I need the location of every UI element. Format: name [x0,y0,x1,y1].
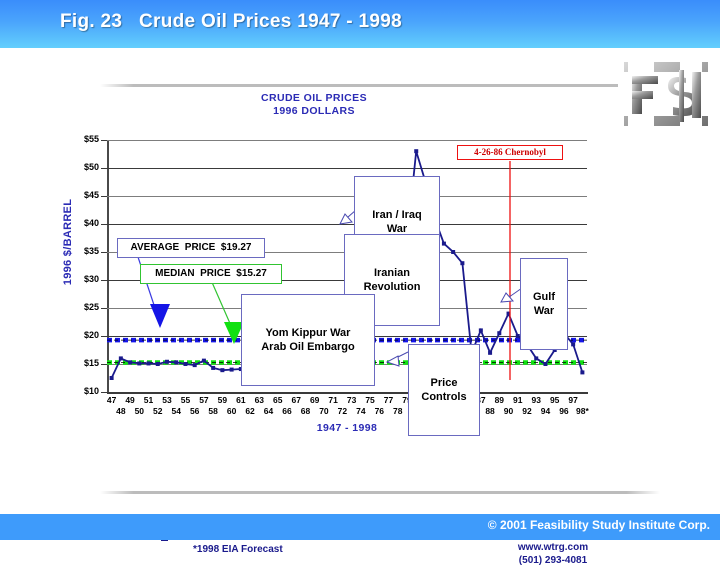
x-axis-tick-label: 58 [204,406,222,416]
series-marker [460,261,464,265]
x-axis-tick-label: 54 [167,406,185,416]
series-marker [534,356,538,360]
x-axis-tick-label: 60 [223,406,241,416]
series-marker [571,342,575,346]
x-axis-tick-label: 64 [260,406,278,416]
y-axis-tick-label: $50 [61,163,99,172]
x-axis-tick-label: 93 [527,395,545,405]
series-marker [165,360,169,364]
x-axis-tick-label: 92 [518,406,536,416]
gridline [107,392,587,393]
y-axis-tick-label: $55 [61,135,99,144]
x-axis-tick-label: 72 [333,406,351,416]
x-axis-tick-label: 75 [361,395,379,405]
x-axis-title: 1947 - 1998 [107,422,587,434]
x-axis-tick-label: 74 [352,406,370,416]
chart-title-line2: 1996 DOLLARS [14,105,614,118]
series-marker [507,312,511,316]
series-marker [174,360,178,364]
x-axis-tick-label: 89 [490,395,508,405]
annotation-average-price: AVERAGE PRICE $19.27 [117,238,265,258]
legend-footnote: *1998 EIA Forecast [193,544,283,555]
series-marker [156,362,160,366]
series-marker [479,328,483,332]
x-axis-tick-label: 76 [370,406,388,416]
page-title: Fig. 23 Crude Oil Prices 1947 - 1998 [60,11,402,33]
series-marker [137,361,141,365]
x-axis-tick-label: 47 [103,395,121,405]
series-marker [211,366,215,370]
x-axis-tick-label: 52 [149,406,167,416]
x-axis-tick-label: 57 [195,395,213,405]
series-marker [580,370,584,374]
series-marker [497,331,501,335]
x-axis-tick-label: 98* [573,406,591,416]
x-axis-tick-labels: 4749515355575961636567697173757779818385… [107,395,589,421]
credit-line-2: www.wtrg.com [448,541,658,554]
divider-top [100,84,660,87]
annotation-yom-kippur-war: Yom Kippur War Arab Oil Embargo [241,294,375,386]
x-axis-tick-label: 59 [213,395,231,405]
x-axis-tick-label: 49 [121,395,139,405]
series-marker [128,360,132,364]
slide-footer-bar: © 2001 Feasibility Study Institute Corp. [0,514,720,540]
series-marker [451,250,455,254]
x-axis-tick-label: 97 [564,395,582,405]
x-axis-tick-label: 69 [306,395,324,405]
x-axis-tick-label: 70 [315,406,333,416]
x-axis-tick-label: 96 [555,406,573,416]
slide-header-bar: Fig. 23 Crude Oil Prices 1947 - 1998 [0,0,720,48]
credit-line-3: (501) 293-4081 [448,554,658,567]
y-axis-tick-label: $45 [61,191,99,200]
x-axis-tick-label: 56 [186,406,204,416]
x-axis-tick-label: 68 [296,406,314,416]
series-marker [442,242,446,246]
x-axis-tick-label: 65 [269,395,287,405]
y-axis-tick-labels: $10$15$20$25$30$35$40$45$50$55 [54,140,99,392]
y-axis-tick-label: $25 [61,303,99,312]
x-axis-tick-label: 50 [130,406,148,416]
annotation-price-controls: Price Controls [408,344,480,436]
x-axis-tick-label: 53 [158,395,176,405]
x-axis-tick-label: 91 [509,395,527,405]
x-axis-tick-label: 55 [176,395,194,405]
y-axis-tick-label: $15 [61,359,99,368]
x-axis-tick-label: 78 [389,406,407,416]
y-axis-tick-label: $20 [61,331,99,340]
x-axis-tick-label: 95 [546,395,564,405]
x-axis-tick-label: 61 [232,395,250,405]
series-marker [543,362,547,366]
copyright-text: © 2001 Feasibility Study Institute Corp. [488,518,710,532]
y-axis-tick-label: $30 [61,275,99,284]
series-marker [414,149,418,153]
x-axis-tick-label: 48 [112,406,130,416]
x-axis-tick-label: 71 [324,395,342,405]
y-axis-tick-label: $40 [61,219,99,228]
chart-title: CRUDE OIL PRICES 1996 DOLLARS [14,92,614,118]
crude-oil-price-chart: CRUDE OIL PRICES 1996 DOLLARS 1996 $/BAR… [44,90,644,482]
x-axis-tick-label: 62 [241,406,259,416]
chart-title-line1: CRUDE OIL PRICES [14,92,614,105]
series-marker [202,359,206,363]
annotation-median-price: MEDIAN PRICE $15.27 [140,264,282,284]
x-axis-tick-label: 67 [287,395,305,405]
divider-bottom [100,491,660,494]
series-marker [119,356,123,360]
x-axis-tick-label: 63 [250,395,268,405]
series-marker [488,351,492,355]
x-axis-tick-label: 77 [380,395,398,405]
annotation-gulf-war: Gulf War [520,258,568,350]
x-axis-tick-label: 90 [500,406,518,416]
series-marker [110,376,114,380]
series-marker [147,361,151,365]
x-axis-tick-label: 66 [278,406,296,416]
x-axis-tick-label: 51 [140,395,158,405]
x-axis-tick-label: 88 [481,406,499,416]
annotation-chernobyl: 4-26-86 Chernobyl [457,145,563,160]
series-marker [193,363,197,367]
y-axis-tick-label: $35 [61,247,99,256]
x-axis-tick-label: 73 [343,395,361,405]
series-marker [230,368,234,372]
y-axis-tick [101,392,107,393]
series-marker [183,362,187,366]
y-axis-tick-label: $10 [61,387,99,396]
series-marker [220,368,224,372]
x-axis-tick-label: 94 [536,406,554,416]
